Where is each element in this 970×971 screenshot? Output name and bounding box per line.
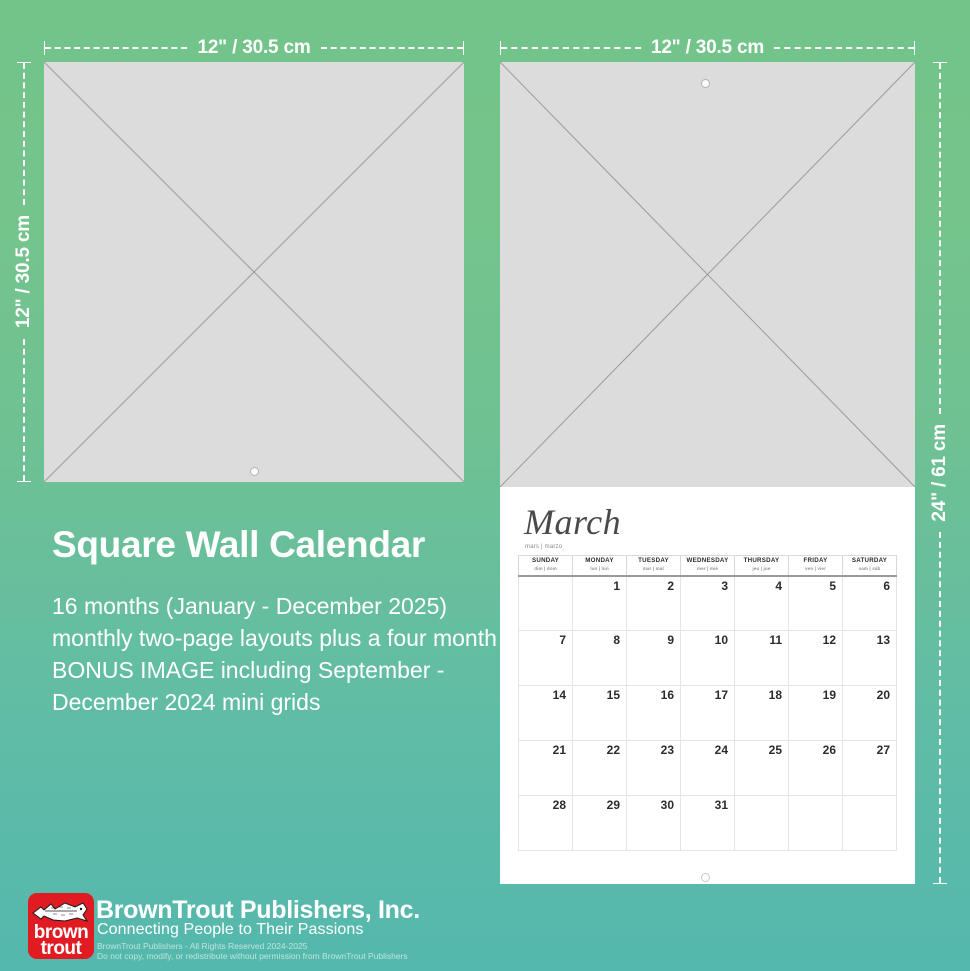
calendar-day-cell[interactable]: 9 <box>627 631 681 686</box>
calendar-day-cell[interactable]: 15 <box>573 686 627 741</box>
day-name-sub: lun | lun <box>573 565 626 572</box>
placeholder-cross-icon <box>500 62 915 487</box>
calendar-day-cell[interactable]: 3 <box>681 576 735 631</box>
day-name-sub: mer | mié <box>681 565 734 572</box>
calendar-month-title: March <box>524 501 621 543</box>
day-name-sub: jeu | jue <box>735 565 788 572</box>
copyright-line-2: Do not copy, modify, or redistribute wit… <box>97 951 408 962</box>
calendar-day-cell[interactable]: 8 <box>573 631 627 686</box>
trout-fish-icon <box>31 898 91 924</box>
calendar-day-cell[interactable]: 27 <box>843 741 897 796</box>
day-name-sub: dim | dom <box>519 565 572 572</box>
day-name-sub: sam | sáb <box>843 565 896 572</box>
calendar-day-cell[interactable]: 4 <box>735 576 789 631</box>
calendar-day-cell[interactable]: 10 <box>681 631 735 686</box>
calendar-day-cell[interactable] <box>519 576 573 631</box>
calendar-day-cell[interactable]: 6 <box>843 576 897 631</box>
calendar-day-cell[interactable] <box>843 796 897 851</box>
calendar-day-cell[interactable]: 24 <box>681 741 735 796</box>
logo-word-trout: trout <box>28 939 94 958</box>
right-image-panel <box>500 62 915 487</box>
dimension-cap-right <box>463 41 464 55</box>
dimension-top-right-label: 12" / 30.5 cm <box>641 37 774 59</box>
calendar-day-header-sunday: SUNDAY dim | dom <box>519 556 573 576</box>
calendar-day-cell[interactable]: 2 <box>627 576 681 631</box>
calendar-day-cell[interactable]: 20 <box>843 686 897 741</box>
hole-punch-right-panel-top <box>701 79 710 88</box>
hole-punch-left-panel <box>250 467 259 476</box>
dimension-dash <box>501 47 641 49</box>
calendar-day-cell[interactable]: 17 <box>681 686 735 741</box>
dimension-dash <box>774 47 914 49</box>
calendar-day-cell[interactable]: 19 <box>789 686 843 741</box>
dimension-cap-bottom <box>933 883 947 884</box>
dimension-cap-bottom <box>17 481 31 482</box>
calendar-grid-table: SUNDAY dim | dom MONDAY lun | lun TUESDA… <box>518 555 897 851</box>
day-name: MONDAY <box>573 557 626 565</box>
calendar-day-header-saturday: SATURDAY sam | sáb <box>843 556 897 576</box>
day-name-sub: mar | mar <box>627 565 680 572</box>
calendar-day-cell[interactable] <box>789 796 843 851</box>
dimension-dash <box>321 47 463 49</box>
browntrout-logo: brown trout <box>28 893 94 959</box>
calendar-day-cell[interactable]: 11 <box>735 631 789 686</box>
dimension-left-height: 12" / 30.5 cm <box>14 62 34 482</box>
calendar-body: 1 2 3 4 5 6 7 8 9 10 11 12 13 14 15 16 1… <box>519 576 897 851</box>
calendar-header-row: SUNDAY dim | dom MONDAY lun | lun TUESDA… <box>519 556 897 576</box>
dimension-dash <box>23 63 25 205</box>
calendar-grid-page: March mars | marzo SUNDAY dim | dom MOND… <box>500 487 915 884</box>
calendar-day-header-monday: MONDAY lun | lun <box>573 556 627 576</box>
dimension-right-height-label: 24" / 61 cm <box>929 414 951 532</box>
placeholder-cross-icon <box>44 62 464 482</box>
calendar-month-subtitle: mars | marzo <box>525 544 562 550</box>
calendar-day-cell[interactable]: 30 <box>627 796 681 851</box>
product-description: 16 months (January - December 2025) mont… <box>52 590 502 718</box>
calendar-day-cell[interactable]: 29 <box>573 796 627 851</box>
left-image-panel <box>44 62 464 482</box>
calendar-day-cell[interactable]: 28 <box>519 796 573 851</box>
dimension-top-right: 12" / 30.5 cm <box>500 38 915 58</box>
hole-punch-right-panel-bottom <box>701 873 710 882</box>
calendar-day-cell[interactable]: 12 <box>789 631 843 686</box>
calendar-day-cell[interactable]: 22 <box>573 741 627 796</box>
calendar-day-cell[interactable]: 13 <box>843 631 897 686</box>
dimension-dash <box>939 63 941 414</box>
dimension-dash <box>939 532 941 883</box>
day-name: FRIDAY <box>789 557 842 565</box>
calendar-day-cell[interactable]: 25 <box>735 741 789 796</box>
calendar-day-cell[interactable]: 18 <box>735 686 789 741</box>
calendar-day-cell[interactable]: 31 <box>681 796 735 851</box>
dimension-top-left: 12" / 30.5 cm <box>44 38 464 58</box>
calendar-day-cell[interactable]: 21 <box>519 741 573 796</box>
calendar-day-header-friday: FRIDAY ven | vier <box>789 556 843 576</box>
calendar-day-cell[interactable]: 23 <box>627 741 681 796</box>
calendar-day-cell[interactable]: 26 <box>789 741 843 796</box>
day-name: SUNDAY <box>519 557 572 565</box>
calendar-day-header-thursday: THURSDAY jeu | jue <box>735 556 789 576</box>
calendar-day-cell[interactable]: 14 <box>519 686 573 741</box>
dimension-right-height: 24" / 61 cm <box>930 62 950 884</box>
calendar-week-row: 1 2 3 4 5 6 <box>519 576 897 631</box>
calendar-week-row: 7 8 9 10 11 12 13 <box>519 631 897 686</box>
day-name: WEDNESDAY <box>681 557 734 565</box>
calendar-day-cell[interactable]: 7 <box>519 631 573 686</box>
page-title: Square Wall Calendar <box>52 524 425 566</box>
dimension-dash <box>45 47 187 49</box>
calendar-day-cell[interactable]: 1 <box>573 576 627 631</box>
calendar-day-cell[interactable]: 5 <box>789 576 843 631</box>
day-name-sub: ven | vier <box>789 565 842 572</box>
calendar-day-header-tuesday: TUESDAY mar | mar <box>627 556 681 576</box>
calendar-week-row: 14 15 16 17 18 19 20 <box>519 686 897 741</box>
dimension-top-left-label: 12" / 30.5 cm <box>187 37 320 59</box>
calendar-week-row: 21 22 23 24 25 26 27 <box>519 741 897 796</box>
calendar-day-cell[interactable] <box>735 796 789 851</box>
calendar-day-header-wednesday: WEDNESDAY mer | mié <box>681 556 735 576</box>
day-name: THURSDAY <box>735 557 788 565</box>
dimension-left-height-label: 12" / 30.5 cm <box>13 205 35 338</box>
dimension-cap-right <box>914 41 915 55</box>
calendar-week-row: 28 29 30 31 <box>519 796 897 851</box>
dimension-dash <box>23 339 25 481</box>
company-tagline: Connecting People to Their Passions <box>97 921 363 939</box>
day-name: SATURDAY <box>843 557 896 565</box>
calendar-day-cell[interactable]: 16 <box>627 686 681 741</box>
day-name: TUESDAY <box>627 557 680 565</box>
